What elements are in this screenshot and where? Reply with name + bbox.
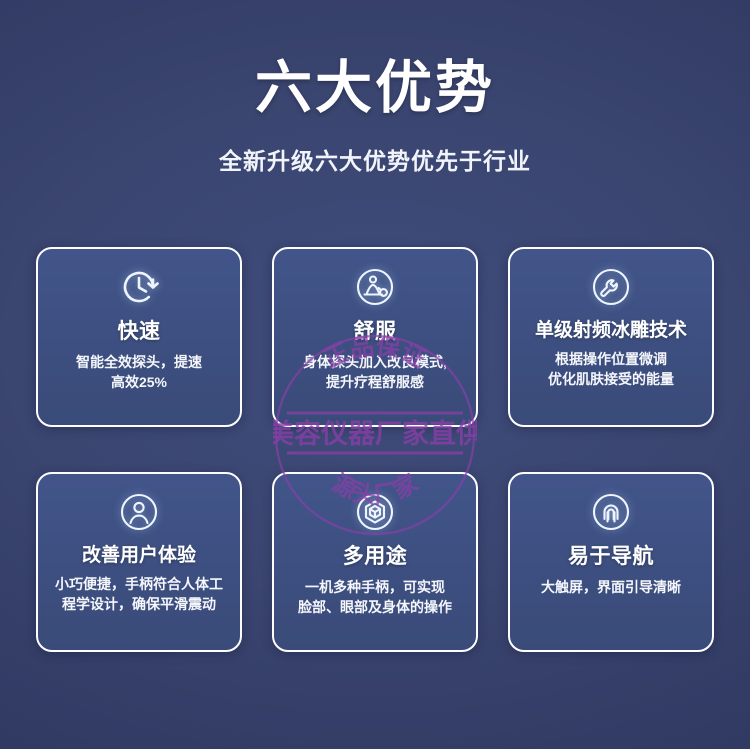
page-title: 六大优势	[0, 0, 750, 120]
feature-card-title: 舒服	[354, 315, 397, 345]
feature-card-desc: 身体探头加入改良模式, 提升疗程舒服感	[295, 352, 455, 393]
feature-card-desc: 小巧便捷，手柄符合人体工 程学设计，确保平滑震动	[47, 574, 231, 615]
feature-card-comfort[interactable]: 舒服 身体探头加入改良模式, 提升疗程舒服感	[272, 247, 478, 427]
feature-card-title: 改善用户体验	[82, 540, 196, 567]
feature-card-multipurpose[interactable]: 多用途 一机多种手柄，可实现 脸部、眼部及身体的操作	[272, 472, 478, 652]
wrench-icon	[587, 263, 635, 311]
feature-card-title: 单级射频冰雕技术	[535, 315, 687, 342]
feature-card-desc: 大触屏，界面引导清晰	[533, 577, 689, 597]
feature-card-grid: 快速 智能全效探头，提速 高效25% 舒服 身体探头加入改良模式, 提升疗程舒服…	[36, 247, 714, 652]
user-icon	[115, 488, 163, 536]
massage-icon	[351, 263, 399, 311]
feature-card-desc: 一机多种手柄，可实现 脸部、眼部及身体的操作	[290, 577, 460, 618]
feature-card-easy-navigation[interactable]: 易于导航 大触屏，界面引导清晰	[508, 472, 714, 652]
cube-icon	[351, 488, 399, 536]
feature-card-title: 易于导航	[568, 540, 654, 570]
feature-card-user-experience[interactable]: 改善用户体验 小巧便捷，手柄符合人体工 程学设计，确保平滑震动	[36, 472, 242, 652]
feature-card-rf-tech[interactable]: 单级射频冰雕技术 根据操作位置微调 优化肌肤接受的能量	[508, 247, 714, 427]
feature-card-title: 多用途	[343, 540, 408, 570]
feature-card-desc: 智能全效探头，提速 高效25%	[68, 352, 210, 393]
feature-card-desc: 根据操作位置微调 优化肌肤接受的能量	[540, 349, 682, 390]
page-subtitle: 全新升级六大优势优先于行业	[0, 120, 750, 176]
clock-arrow-icon	[115, 263, 163, 311]
page-header: 六大优势 全新升级六大优势优先于行业	[0, 0, 750, 176]
feature-card-fast[interactable]: 快速 智能全效探头，提速 高效25%	[36, 247, 242, 427]
fingerprint-icon	[587, 488, 635, 536]
feature-card-title: 快速	[118, 315, 161, 345]
promo-page: 六大优势 全新升级六大优势优先于行业 快速 智能全效探头，提速 高效25%	[0, 0, 750, 749]
